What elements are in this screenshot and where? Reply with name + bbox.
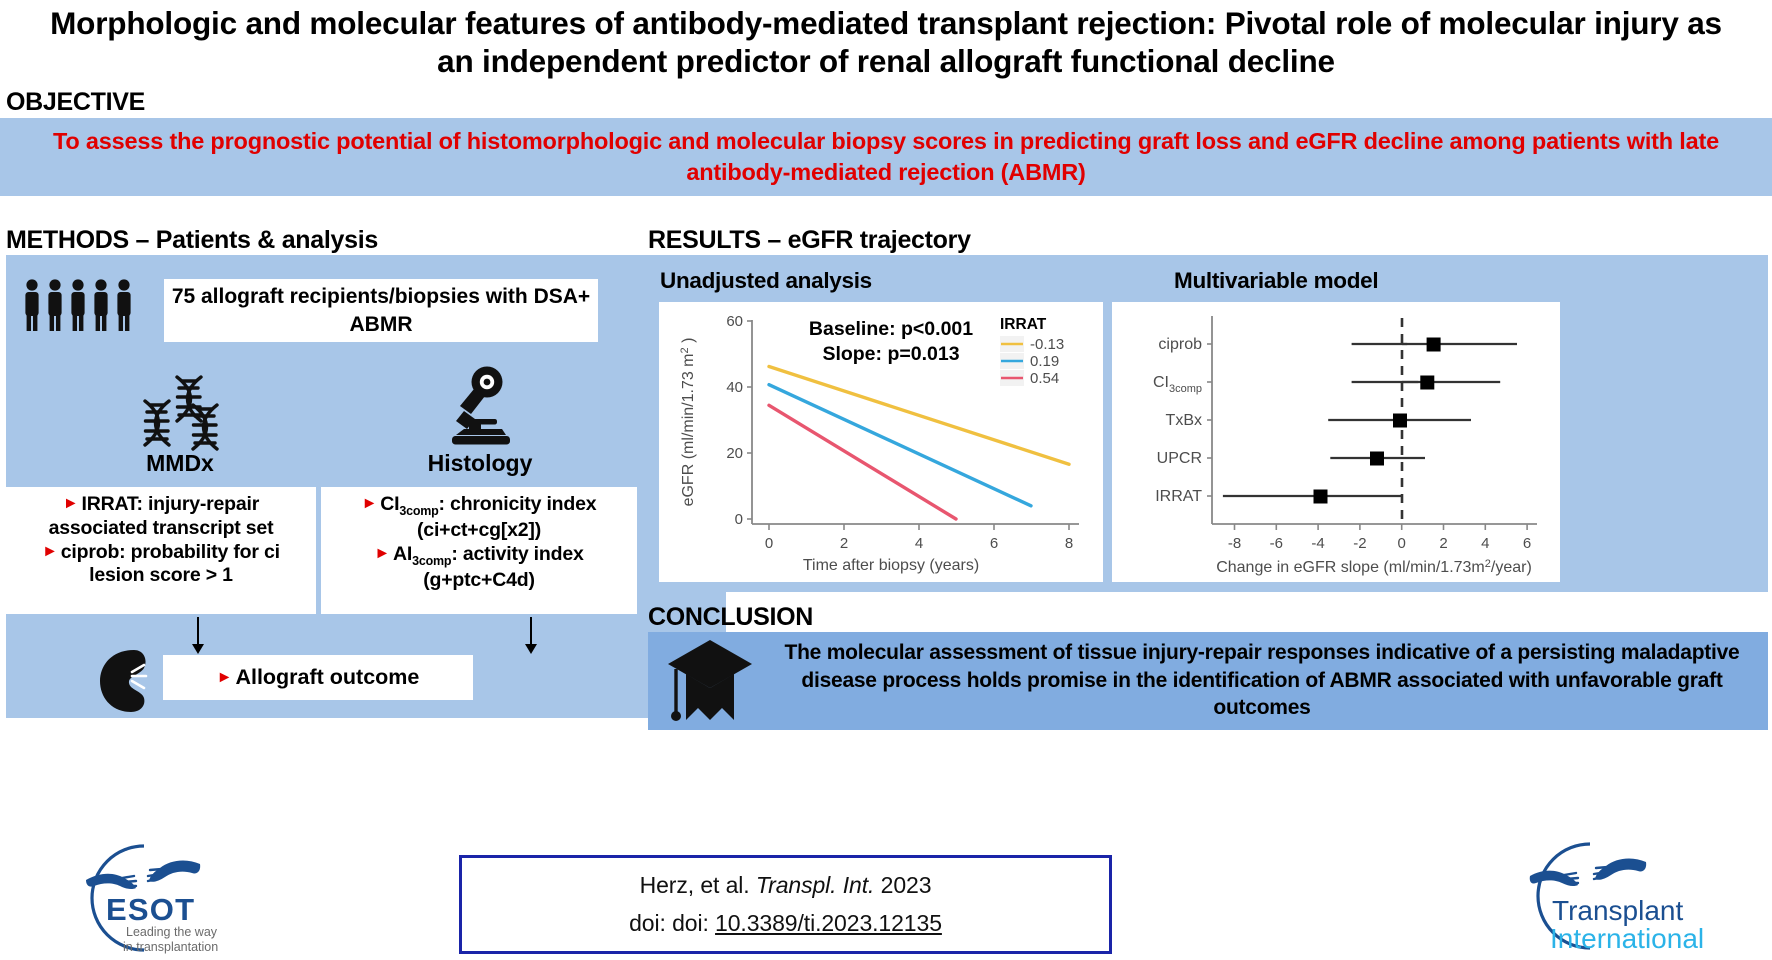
conclusion-text: The molecular assessment of tissue injur…	[772, 639, 1752, 722]
arrow-right-head	[525, 644, 537, 654]
doi-prefix: doi: doi:	[629, 910, 709, 936]
svg-text:eGFR (ml/min/1.73 m2 ): eGFR (ml/min/1.73 m2 )	[679, 338, 697, 507]
svg-text:4: 4	[915, 535, 923, 552]
mmdx-label: MMDx	[110, 450, 250, 477]
dna-icon	[133, 365, 229, 453]
svg-text:6: 6	[990, 535, 998, 552]
svg-text:CI3comp: CI3comp	[1153, 374, 1202, 395]
svg-text:8: 8	[1065, 535, 1073, 552]
histology-bullet-box: ►CI3comp: chronicity index (ci+ct+cg[x2]…	[321, 487, 637, 614]
transplant-international-logo: Transplant International	[1528, 838, 1763, 956]
cohort-box: 75 allograft recipients/biopsies with DS…	[164, 279, 598, 342]
objective-banner: To assess the prognostic potential of hi…	[0, 118, 1772, 196]
kidney-icon	[96, 648, 158, 714]
svg-text:IRRAT: IRRAT	[1000, 316, 1047, 333]
svg-text:-6: -6	[1270, 535, 1283, 552]
citation-authors: Herz, et al.	[640, 872, 750, 898]
triangle-bullet-icon: ►	[374, 544, 390, 564]
mmdx-bullet-box: ►IRRAT: injury-repair associated transcr…	[6, 487, 316, 614]
svg-text:-0.13: -0.13	[1030, 336, 1064, 353]
microscope-icon	[430, 362, 522, 454]
multivariable-chart-title: Multivariable model	[1174, 268, 1378, 294]
bullet-ci3comp-term: CI	[380, 493, 399, 515]
graduation-cap-icon	[664, 638, 756, 724]
bullet-ci3comp-sub: 3comp	[399, 504, 438, 518]
arrow-left-head	[192, 644, 204, 654]
svg-text:20: 20	[726, 445, 743, 462]
methods-heading: METHODS – Patients & analysis	[6, 226, 378, 255]
multivariable-forest-plot: ciprob CI3comp TxBx UPCR IRRAT	[1112, 302, 1560, 582]
svg-text:4: 4	[1481, 535, 1489, 552]
triangle-bullet-icon: ►	[362, 494, 378, 514]
svg-text:40: 40	[726, 379, 743, 396]
ti-logo-line2: International	[1550, 923, 1704, 954]
bullet-ai3comp: ►AI3comp: activity index (g+ptc+C4d)	[329, 543, 629, 593]
esot-logo: ESOT Leading the way in transplantation	[48, 838, 238, 958]
objective-text: To assess the prognostic potential of hi…	[0, 126, 1772, 189]
svg-text:Slope: p=0.013: Slope: p=0.013	[822, 343, 959, 365]
bullet-ciprob-term: ciprob	[61, 541, 119, 563]
svg-text:TxBx: TxBx	[1166, 412, 1202, 429]
bullet-ciprob: ►ciprob: probability for ci lesion score…	[14, 541, 308, 589]
citation-doi-line: doi: doi: 10.3389/ti.2023.12135	[629, 910, 942, 937]
svg-text:6: 6	[1523, 535, 1531, 552]
svg-text:ciprob: ciprob	[1158, 336, 1202, 353]
svg-text:2: 2	[840, 535, 848, 552]
citation-journal: Transpl. Int.	[756, 872, 874, 898]
citation-reference: Herz, et al. Transpl. Int. 2023	[640, 872, 932, 899]
arrow-left-shaft	[197, 617, 199, 646]
svg-text:UPCR: UPCR	[1157, 450, 1202, 467]
citation-year: 2023	[881, 872, 932, 898]
objective-heading: OBJECTIVE	[6, 88, 145, 117]
arrow-right-shaft	[530, 617, 532, 646]
svg-text:2: 2	[1439, 535, 1447, 552]
results-heading: RESULTS – eGFR trajectory	[648, 226, 971, 255]
svg-text:0.54: 0.54	[1030, 370, 1059, 387]
svg-text:-8: -8	[1228, 535, 1241, 552]
cohort-box-text: 75 allograft recipients/biopsies with DS…	[164, 283, 598, 338]
esot-logo-text: ESOT	[106, 892, 195, 927]
svg-text:0: 0	[1398, 535, 1406, 552]
bullet-ai3comp-term: AI	[393, 543, 412, 565]
triangle-bullet-icon: ►	[42, 542, 58, 562]
svg-text:Time after biopsy (years): Time after biopsy (years)	[803, 557, 979, 574]
svg-text:0: 0	[735, 511, 743, 528]
bullet-ci3comp: ►CI3comp: chronicity index (ci+ct+cg[x2]…	[329, 493, 629, 543]
esot-tagline-line1: Leading the way	[126, 925, 218, 939]
svg-text:-4: -4	[1311, 535, 1324, 552]
citation-box: Herz, et al. Transpl. Int. 2023 doi: doi…	[459, 855, 1112, 954]
esot-tagline-line2: in transplantation	[123, 940, 218, 954]
allograft-outcome-box: ►Allograft outcome	[163, 655, 473, 700]
triangle-bullet-icon: ►	[217, 669, 233, 687]
doi-link[interactable]: 10.3389/ti.2023.12135	[715, 910, 942, 936]
triangle-bullet-icon: ►	[63, 494, 79, 514]
histology-label: Histology	[400, 450, 560, 477]
bullet-ci3comp-rest: : chronicity index (ci+ct+cg[x2])	[417, 493, 596, 541]
bullet-irrat-term: IRRAT	[81, 493, 136, 515]
svg-text:Change in eGFR slope (ml/min/1: Change in eGFR slope (ml/min/1.73m2/year…	[1216, 558, 1532, 576]
svg-text:IRRAT: IRRAT	[1155, 488, 1202, 505]
graphical-abstract-page: Morphologic and molecular features of an…	[0, 0, 1772, 960]
unadjusted-egfr-chart: 60 40 20 0 02 468 Time after biopsy (yea…	[659, 302, 1103, 582]
conclusion-heading: CONCLUSION	[648, 603, 813, 632]
bullet-ai3comp-sub: 3comp	[412, 554, 451, 568]
ti-logo-line1: Transplant	[1552, 895, 1683, 926]
multivariable-chart-card: ciprob CI3comp TxBx UPCR IRRAT	[1112, 302, 1560, 582]
svg-text:-2: -2	[1353, 535, 1366, 552]
unadjusted-chart-title: Unadjusted analysis	[660, 268, 872, 294]
svg-text:Baseline: p<0.001: Baseline: p<0.001	[809, 318, 973, 340]
page-title: Morphologic and molecular features of an…	[28, 4, 1744, 81]
svg-text:60: 60	[726, 313, 743, 330]
people-icon	[22, 277, 137, 337]
svg-text:0: 0	[765, 535, 773, 552]
svg-text:0.19: 0.19	[1030, 353, 1059, 370]
bullet-irrat: ►IRRAT: injury-repair associated transcr…	[14, 493, 308, 541]
allograft-outcome-text: Allograft outcome	[235, 665, 419, 689]
unadjusted-chart-card: 60 40 20 0 02 468 Time after biopsy (yea…	[659, 302, 1103, 582]
